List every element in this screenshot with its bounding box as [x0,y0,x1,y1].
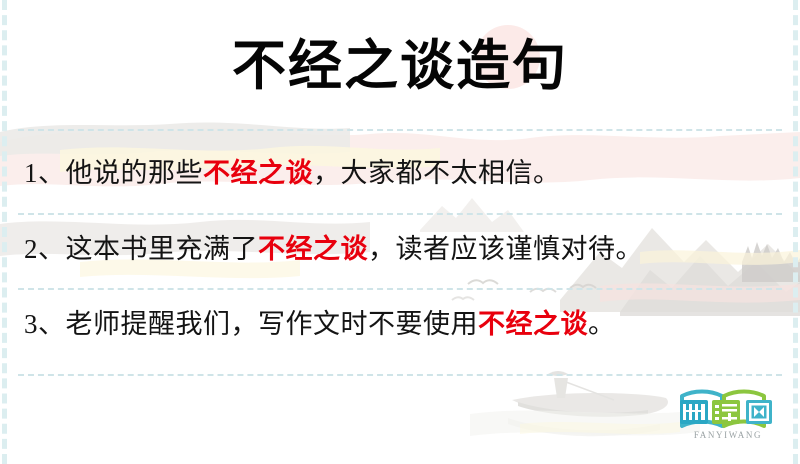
slide-canvas: 不经之谈造句 1、他说的那些不经之谈，大家都不太相信。 2、这本书里充满了不经之… [0,0,800,464]
sentence-2-number: 2、 [24,234,66,264]
sentence-2-after: ，读者应该谨慎对待。 [368,234,643,264]
example-sentence-2: 2、这本书里充满了不经之谈，读者应该谨慎对待。 [24,232,780,266]
sentence-3-before: 老师提醒我们，写作文时不要使用 [66,309,479,339]
divider-rule-2 [18,213,782,215]
sentence-1-after: ，大家都不太相信。 [313,158,561,188]
example-sentence-1: 1、他说的那些不经之谈，大家都不太相信。 [24,156,780,190]
sentence-3-after: 。 [588,309,616,339]
frame-border-left [2,0,7,464]
mountain-small-left [420,198,524,232]
water-wash [470,410,700,436]
title-container: 不经之谈造句 [0,34,800,96]
sentence-3-number: 3、 [24,309,66,339]
page-title: 不经之谈造句 [232,34,568,96]
bird-1 [468,280,498,284]
divider-rule-3 [18,288,782,290]
example-sentence-3: 3、老师提醒我们，写作文时不要使用不经之谈。 [24,307,780,341]
sentence-2-before: 这本书里充满了 [66,234,259,264]
boat-hull [512,393,668,416]
site-logo[interactable]: FANYIWANG [672,386,784,448]
bird-4 [452,297,474,300]
mountain-wash-pink [600,283,800,302]
frame-border-right [793,0,798,464]
boat-hull-shadow [518,402,648,417]
boat-with-fisherman [508,371,668,436]
sentence-3-idiom: 不经之谈 [478,309,588,339]
sentence-1-before: 他说的那些 [66,158,204,188]
water-wash-yellow [520,422,680,434]
sentence-2-idiom: 不经之谈 [258,234,368,264]
cloud-wash-grey [0,122,350,156]
logo-caption: FANYIWANG [672,430,784,440]
sentence-1-idiom: 不经之谈 [203,158,313,188]
divider-rule-1 [18,129,782,131]
boat-reflection [508,418,660,436]
divider-rule-4 [18,374,782,376]
fishing-pole [566,382,614,400]
fisherman-body [554,378,568,398]
sentence-1-number: 1、 [24,158,66,188]
